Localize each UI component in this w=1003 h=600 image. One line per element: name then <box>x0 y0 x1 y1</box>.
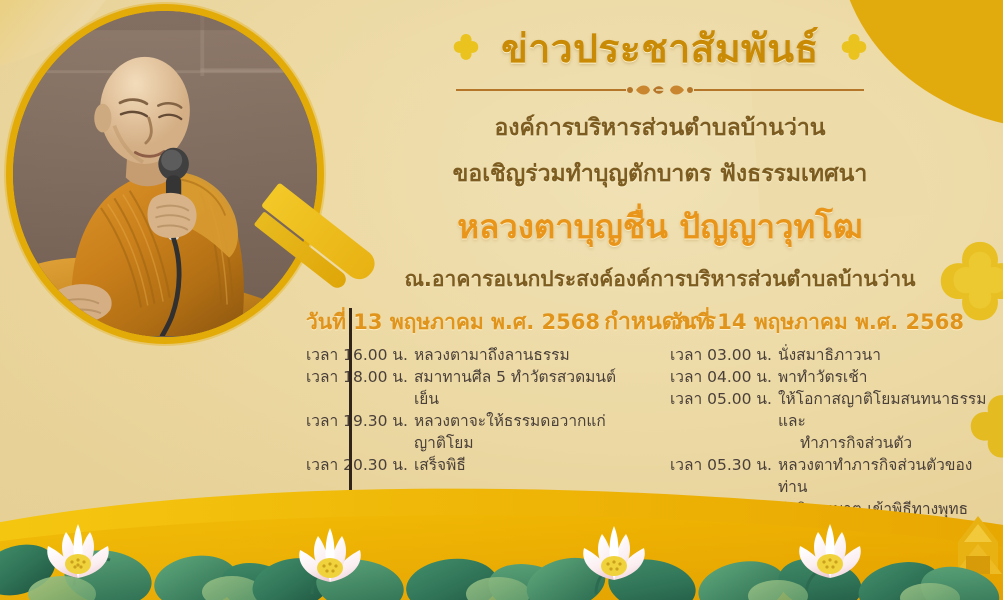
organization-name: องค์การบริหารส่วนตำบลบ้านว่าน <box>330 110 990 146</box>
header-block: ข่าวประชาสัมพันธ์ องค์การบริหารส่วนตำบลบ… <box>330 18 990 340</box>
portrait-photo <box>13 11 317 336</box>
schedule-entry-time: เวลา 05.00 น. <box>670 388 778 454</box>
quatrefoil-icon-left <box>449 32 483 66</box>
venue-line: ณ.อาคารอเนกประสงค์องค์การบริหารส่วนตำบลบ… <box>330 263 990 296</box>
schedule-entry-desc: ให้โอกาสญาติโยมสนทนาธรรมและทำภารกิจส่วนต… <box>778 388 990 454</box>
schedule-entry: เวลา 04.00 น.พาทำวัตรเช้า <box>670 366 990 388</box>
schedule-entry-desc: พาทำวัตรเช้า <box>778 366 990 388</box>
schedule-entry-desc: สมาทานศีล 5 ทำวัตรสวดมนต์เย็น <box>414 366 636 410</box>
schedule-entry: เวลา 05.00 น.ให้โอกาสญาติโยมสนทนาธรรมและ… <box>670 388 990 454</box>
title-row: ข่าวประชาสัมพันธ์ <box>330 18 990 80</box>
schedule-entry-continuation: ทำภารกิจส่วนตัว <box>778 432 990 454</box>
monk-name: หลวงตาบุญชื่น ปัญญาวุทโฒ <box>330 200 990 253</box>
schedule-entry-desc: นั่งสมาธิภาวนา <box>778 344 990 366</box>
monk-portrait <box>6 4 324 344</box>
schedule-entry-time: เวลา 16.00 น. <box>306 344 414 366</box>
schedule-entry-time: เวลา 04.00 น. <box>670 366 778 388</box>
invitation-line: ขอเชิญร่วมทำบุญตักบาตร ฟังธรรมเทศนา <box>330 156 990 192</box>
quatrefoil-icon-right <box>837 32 871 66</box>
schedule-entry-time: เวลา 19.30 น. <box>306 410 414 454</box>
schedule-entry-desc: หลวงตาจะให้ธรรมดอวากแก่ญาติโยม <box>414 410 636 454</box>
schedule-entry-time: เวลา 18.00 น. <box>306 366 414 410</box>
poster-canvas: ข่าวประชาสัมพันธ์ องค์การบริหารส่วนตำบลบ… <box>0 0 1003 600</box>
page-title: ข่าวประชาสัมพันธ์ <box>501 18 819 80</box>
schedule-entry-desc: เสร็จพิธี <box>414 454 636 476</box>
portrait-gold-ring <box>6 4 324 344</box>
lotus-band-art <box>0 482 1003 600</box>
schedule-date-day2: วันที่ 14 พฤษภาคม พ.ศ. 2568 <box>670 306 990 339</box>
schedule-entry-desc: หลวงตามาถึงลานธรรม <box>414 344 636 366</box>
schedule-entry: เวลา 03.00 น.นั่งสมาธิภาวนา <box>670 344 990 366</box>
schedule-entry-time: เวลา 20.30 น. <box>306 454 414 476</box>
schedule-entry-time: เวลา 03.00 น. <box>670 344 778 366</box>
lotus-flower-band <box>0 482 1003 600</box>
ornamental-divider <box>450 82 870 98</box>
